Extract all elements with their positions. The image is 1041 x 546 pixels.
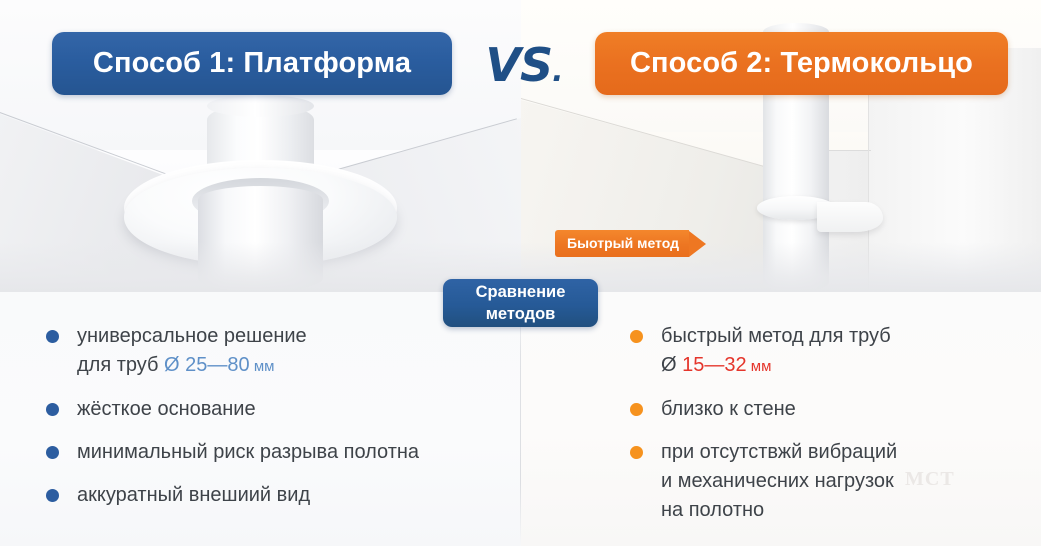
size-value: 25—80 bbox=[185, 354, 250, 376]
thermal-ring-tab bbox=[817, 202, 883, 232]
vs-text: VS bbox=[485, 38, 552, 92]
arrow-right-icon bbox=[689, 231, 706, 257]
bullet-dot bbox=[630, 330, 643, 343]
bullet-dot bbox=[46, 489, 59, 502]
header-badge-method-2-label: Способ 2: Термокольцо bbox=[630, 47, 973, 80]
ceiling-edge-left bbox=[521, 98, 781, 182]
list-item: универсальное решение для труб Ø 25—80 м… bbox=[46, 322, 506, 381]
vertical-divider bbox=[520, 292, 521, 546]
list-item-line: универсальное решение bbox=[77, 322, 506, 351]
list-item: минимальный риск разрыва полотна bbox=[46, 438, 506, 467]
list-item-line: близко к стене bbox=[661, 395, 1025, 424]
list-item: быстрый метод для труб Ø 15—32 мм bbox=[630, 322, 1025, 381]
header-badge-method-2[interactable]: Способ 2: Термокольцо bbox=[595, 32, 1008, 95]
list-item-line: аккуратный внешиий вид bbox=[77, 481, 506, 510]
list-item-line: на полотно bbox=[661, 496, 1025, 525]
list-item-line: жёсткое основание bbox=[77, 395, 506, 424]
list-item-line-with-size: для труб Ø 25—80 мм bbox=[77, 351, 506, 381]
fast-method-tag-label: Быотрый метод bbox=[555, 230, 689, 257]
benefits-list-right: быстрый метод для труб Ø 15—32 мм близко… bbox=[630, 322, 1025, 539]
list-item-line-text: для труб bbox=[77, 354, 164, 376]
vs-dot: . bbox=[552, 54, 562, 89]
bullet-dot bbox=[630, 403, 643, 416]
list-item-line: при отсутствжй вибраций bbox=[661, 438, 1025, 467]
list-item: при отсутствжй вибраций и механичесних н… bbox=[630, 438, 1025, 525]
bullet-dot bbox=[46, 446, 59, 459]
comparison-badge-line2: методов bbox=[486, 303, 556, 325]
bullet-dot bbox=[46, 403, 59, 416]
list-item-line: и механичесних нагрузок bbox=[661, 467, 1025, 496]
bullet-dot bbox=[630, 446, 643, 459]
list-item-line: быстрый метод для труб bbox=[661, 322, 1025, 351]
size-unit-label: мм bbox=[751, 358, 772, 375]
list-item-line-with-size: Ø 15—32 мм bbox=[661, 351, 1025, 381]
header-badge-method-1-label: Способ 1: Платформа bbox=[93, 47, 411, 80]
size-unit-label: мм bbox=[254, 358, 275, 375]
list-item: близко к стене bbox=[630, 395, 1025, 424]
comparison-badge[interactable]: Сравнение методов bbox=[443, 279, 598, 327]
vs-logo: VS. bbox=[484, 36, 564, 94]
bullet-dot bbox=[46, 330, 59, 343]
size-value: 15—32 bbox=[682, 354, 747, 376]
benefits-list-left: универсальное решение для труб Ø 25—80 м… bbox=[46, 322, 506, 524]
comparison-badge-line1: Сравнение bbox=[476, 281, 566, 303]
diameter-symbol: Ø bbox=[164, 354, 180, 376]
list-item: аккуратный внешиий вид bbox=[46, 481, 506, 510]
list-item: жёсткое основание bbox=[46, 395, 506, 424]
list-item-line: минимальный риск разрыва полотна bbox=[77, 438, 506, 467]
infographic-canvas: МСТ Способ 1: Платформа VS. Способ 2: Те… bbox=[0, 0, 1041, 546]
header-badge-method-1[interactable]: Способ 1: Платформа bbox=[52, 32, 452, 95]
fast-method-tag[interactable]: Быотрый метод bbox=[555, 230, 706, 257]
diameter-symbol: Ø bbox=[661, 354, 677, 376]
